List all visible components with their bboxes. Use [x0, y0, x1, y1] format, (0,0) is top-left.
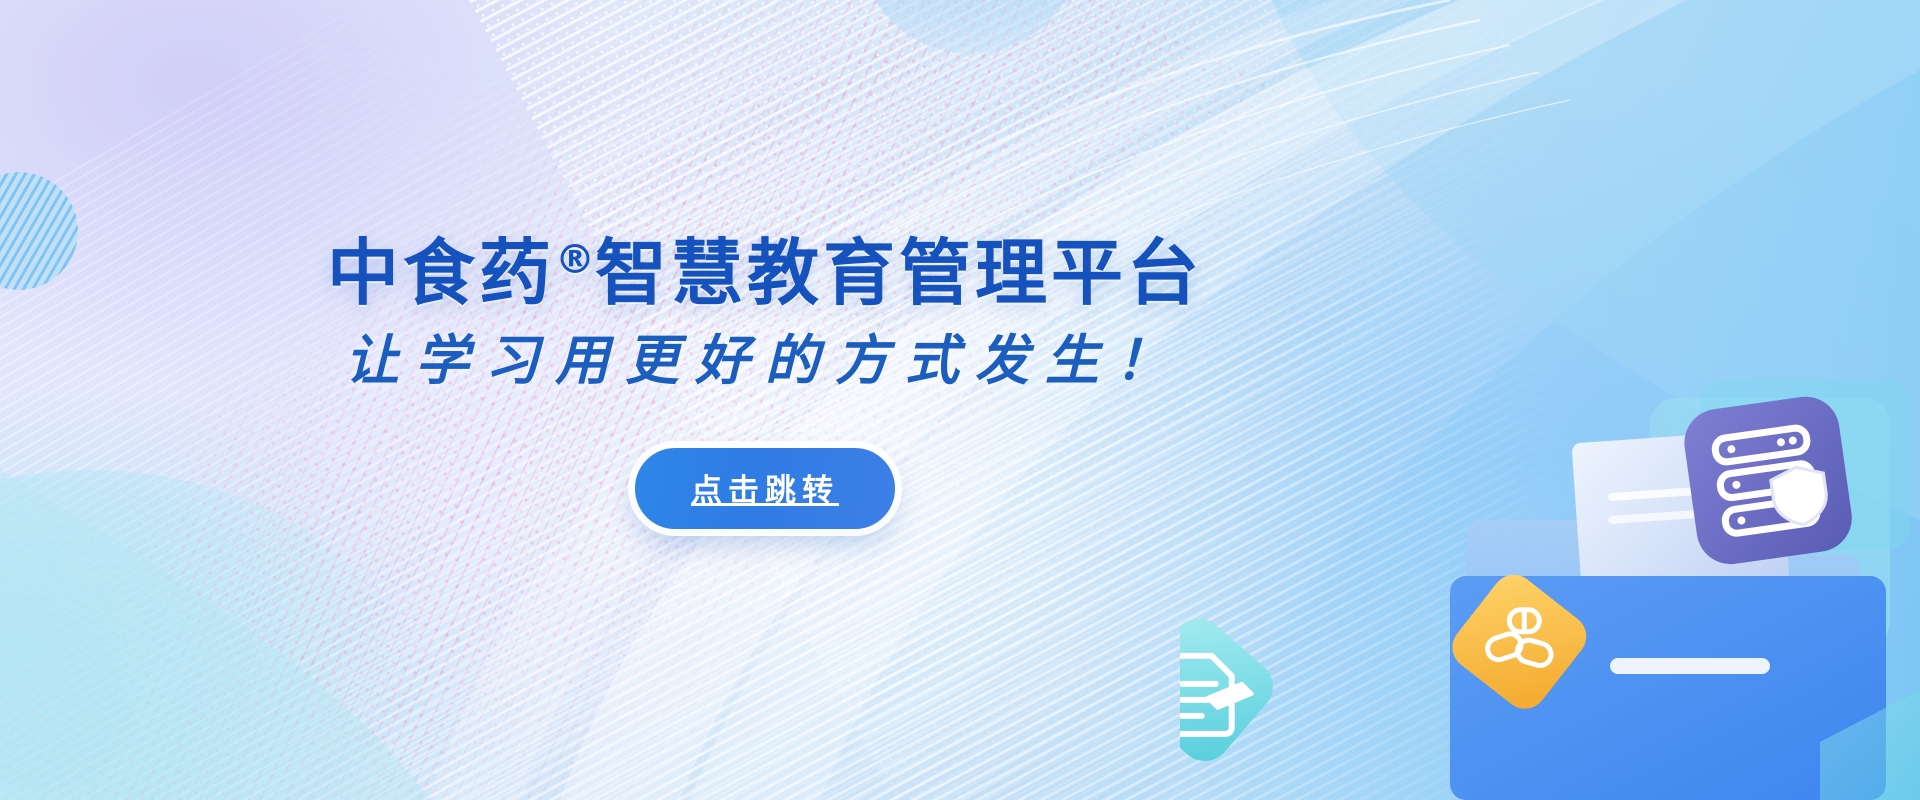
hero-banner: 中食药®智慧教育管理平台 让学习用更好的方式发生！ 点击跳转: [0, 0, 1920, 800]
registered-trademark-icon: ®: [555, 237, 595, 283]
database-card: [1680, 392, 1856, 568]
edit-doc-tile: [1180, 608, 1290, 778]
jump-button[interactable]: 点击跳转: [635, 448, 895, 529]
title-brand: 中食药: [327, 231, 555, 315]
hero-illustration: [1180, 370, 1920, 800]
title-tail: 智慧教育管理平台: [595, 231, 1203, 315]
page-title: 中食药®智慧教育管理平台: [0, 214, 1530, 319]
